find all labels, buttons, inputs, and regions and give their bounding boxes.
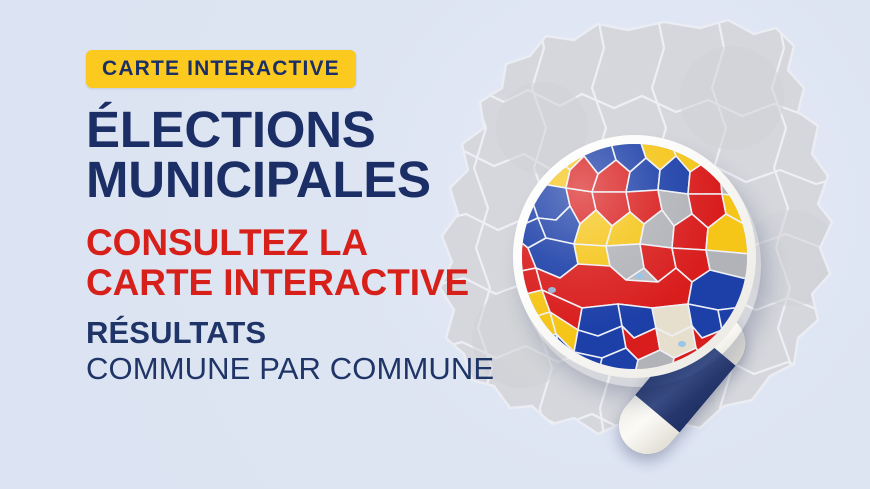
poster-copy: CARTE INTERACTIVE ÉLECTIONS MUNICIPALES …: [86, 50, 516, 384]
cta-line-1: CONSULTEZ LA: [86, 223, 516, 263]
poster-canvas: CARTE INTERACTIVE ÉLECTIONS MUNICIPALES …: [0, 0, 870, 489]
page-title-line-1: ÉLECTIONS: [86, 105, 516, 155]
carte-interactive-badge[interactable]: CARTE INTERACTIVE: [86, 50, 356, 88]
cta-line-2: CARTE INTERACTIVE: [86, 263, 516, 303]
call-to-action-heading: CONSULTEZ LA CARTE INTERACTIVE: [86, 223, 516, 302]
caption-line-1: RÉSULTATS: [86, 317, 516, 349]
page-title: ÉLECTIONS MUNICIPALES: [86, 105, 516, 205]
caption-line-2: COMMUNE PAR COMMUNE: [86, 353, 516, 385]
page-title-line-2: MUNICIPALES: [86, 155, 516, 205]
